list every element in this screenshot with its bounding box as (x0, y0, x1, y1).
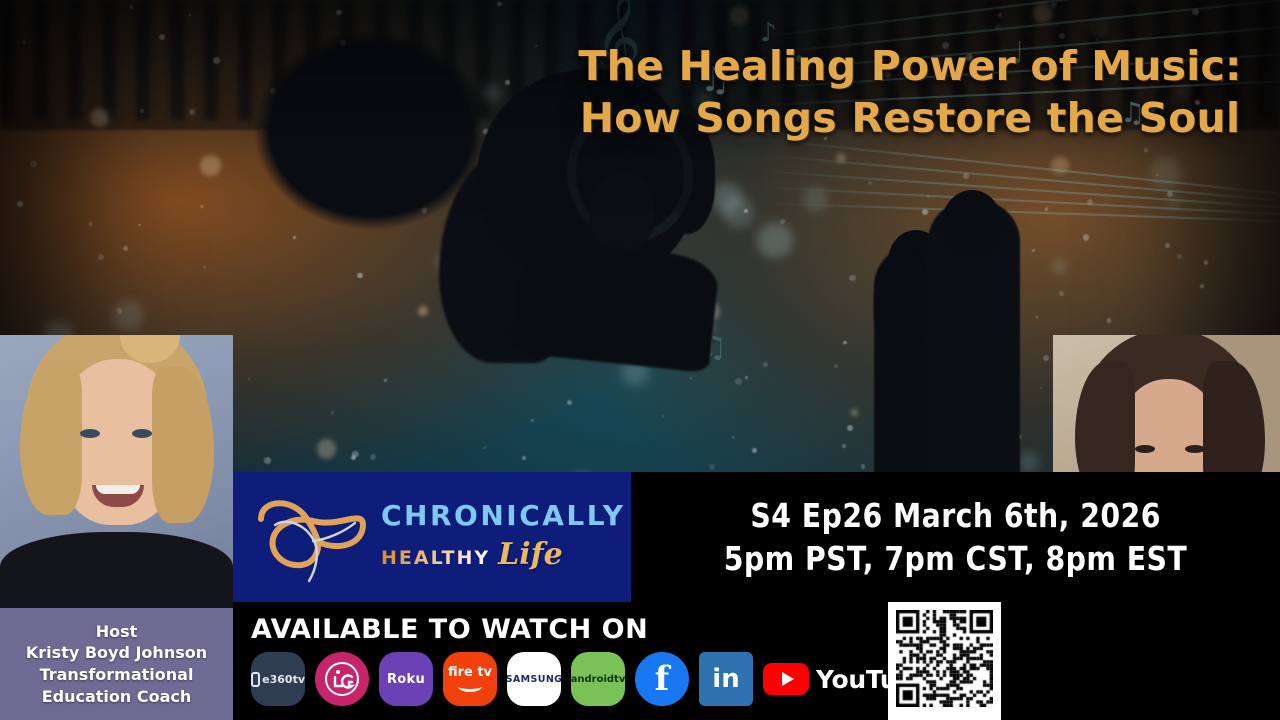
host-title-1: Transformational (40, 664, 194, 686)
e360tv-label: e360tv (262, 673, 305, 686)
fire-tv-smile (458, 681, 482, 692)
title-line-1: The Healing Power of Music: (578, 42, 1241, 90)
brand-logo-bar: CHRONICALLY HEALTHY Life (233, 472, 631, 602)
host-title-2: Education Coach (42, 686, 192, 708)
e360tv-icon[interactable]: e360tv (251, 652, 305, 706)
samsung-icon[interactable]: SAMSUNG (507, 652, 561, 706)
guest-eye-right (1185, 445, 1205, 453)
title-line-2: How Songs Restore the Soul (560, 92, 1260, 144)
linkedin-label: in (712, 664, 739, 694)
qr-code[interactable] (888, 602, 1001, 720)
infinity-heart-icon (247, 485, 377, 589)
guest-eye-left (1135, 445, 1155, 453)
brand-life: Life (498, 537, 562, 572)
linkedin-icon[interactable]: in (699, 652, 753, 706)
host-photo (0, 335, 233, 608)
androidtv-icon[interactable]: androidtv (571, 652, 625, 706)
youtube-play-icon (763, 663, 809, 695)
host-panel: Host Kristy Boyd Johnson Transformationa… (0, 335, 233, 720)
promo-graphic: 𝄞 ♫ ♪ ♩ ♫ ♪ ♫ The Healing Power of Music… (0, 0, 1280, 720)
episode-number-date: S4 Ep26 March 6th, 2026 (750, 496, 1161, 535)
fire-tv-label: fire tv (448, 666, 492, 679)
episode-times: 5pm PST, 7pm CST, 8pm EST (724, 539, 1187, 578)
roku-label: Roku (387, 672, 425, 687)
watch-platforms-bar: AVAILABLE TO WATCH ON e360tv Roku fire t… (233, 602, 1280, 720)
host-role: Host (96, 621, 138, 643)
brand-healthy: HEALTHY (381, 547, 490, 569)
roku-icon[interactable]: Roku (379, 652, 433, 706)
facebook-icon[interactable]: f (635, 652, 689, 706)
host-eye-right (132, 429, 152, 438)
host-name: Kristy Boyd Johnson (26, 642, 207, 664)
samsung-label: SAMSUNG (507, 674, 561, 685)
watch-heading: AVAILABLE TO WATCH ON (251, 614, 648, 645)
host-hair-left (20, 365, 82, 515)
episode-title: The Healing Power of Music: How Songs Re… (560, 40, 1260, 145)
androidtv-label: androidtv (571, 674, 625, 685)
brand-chronically: CHRONICALLY (381, 502, 631, 530)
brand-wordmark: CHRONICALLY HEALTHY Life (377, 502, 631, 572)
host-teeth (96, 485, 140, 494)
episode-info-bar: S4 Ep26 March 6th, 2026 5pm PST, 7pm CST… (631, 472, 1280, 602)
lg-icon[interactable] (315, 652, 369, 706)
facebook-label: f (655, 659, 670, 699)
host-clothing (0, 532, 233, 608)
platform-icon-row: e360tv Roku fire tv SAMSUNG (251, 652, 932, 706)
qr-code-canvas (896, 610, 993, 707)
host-eye-left (80, 429, 100, 438)
host-caption: Host Kristy Boyd Johnson Transformationa… (0, 608, 233, 720)
fire-tv-icon[interactable]: fire tv (443, 652, 497, 706)
